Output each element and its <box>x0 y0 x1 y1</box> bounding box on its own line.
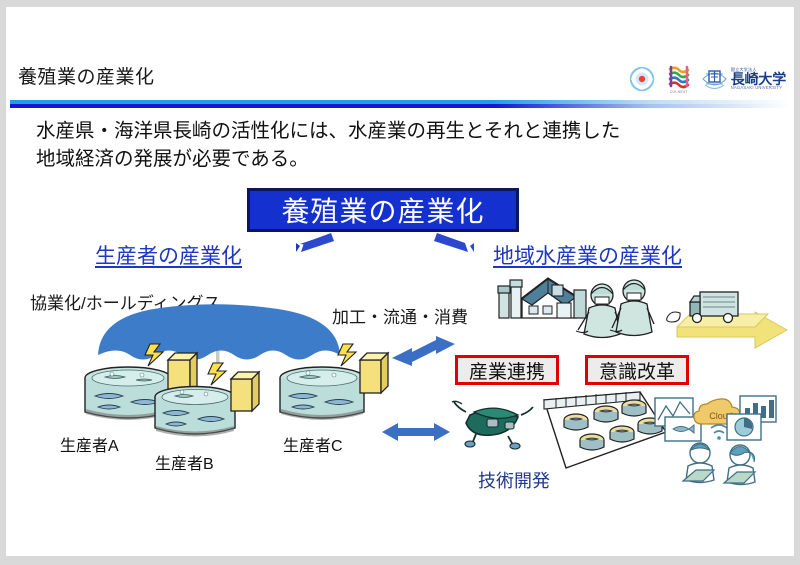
producer-tank-c-icon <box>280 344 388 420</box>
producer-label-b: 生産者B <box>155 450 214 474</box>
producer-label-c: 生産者C <box>283 432 343 456</box>
truck-icon <box>667 292 738 323</box>
branch-arrow-left-icon <box>296 233 334 252</box>
page-title: 養殖業の産業化 <box>18 62 155 89</box>
lead-line-1: 水産県・海洋県長崎の活性化には、水産業の再生とそれと連携した <box>36 118 766 146</box>
branch-arrow-right-icon <box>434 233 474 252</box>
nagasaki-main-text: 長崎大学 <box>731 72 786 86</box>
aquaculture-farm-icon <box>544 392 666 468</box>
nagasaki-wordmark: 国立大学法人 長崎大学 NAGASAKI UNIVERSITY <box>731 68 786 90</box>
distribution-arrow-icon <box>677 312 787 348</box>
coinext-icon <box>666 65 692 89</box>
connector-arrow-lower-icon <box>382 423 450 441</box>
svg-text:Cloud: Cloud <box>709 411 733 421</box>
value-chain-label: 加工・流通・消費 <box>332 303 468 328</box>
tech-development-label: 技術開発 <box>478 467 550 493</box>
workers-icon <box>576 280 654 338</box>
producer-tank-b-icon <box>155 363 259 437</box>
coinext-caption: COI-NEXT <box>670 90 688 94</box>
slide-frame-top <box>0 0 800 7</box>
nagasaki-crest-icon <box>701 65 728 93</box>
producer-tank-a-icon <box>85 344 197 420</box>
highlight-box-mindset-reform: 意識改革 <box>585 355 689 385</box>
branch-heading-producers: 生産者の産業化 <box>95 240 242 270</box>
slide-frame-bottom <box>0 556 800 565</box>
ict-cloud-icon: Cloud <box>655 396 776 485</box>
connector-arrow-upper-icon <box>392 336 455 366</box>
umbrella-icon <box>98 304 340 376</box>
factory-icon <box>498 278 586 318</box>
lead-line-2: 地域経済の発展が必要である。 <box>36 146 766 174</box>
branch-heading-regional: 地域水産業の産業化 <box>493 240 682 270</box>
marine-flower-logo <box>627 64 657 94</box>
nagasaki-sub-text: NAGASAKI UNIVERSITY <box>731 86 786 90</box>
logo-group: COI-NEXT 国立大学法人 長崎大学 NAGASAKI UNIVERSITY <box>627 60 786 98</box>
nagasaki-university-logo: 国立大学法人 長崎大学 NAGASAKI UNIVERSITY <box>701 65 786 93</box>
coinext-logo: COI-NEXT <box>666 65 692 94</box>
slide-frame-left <box>0 0 6 565</box>
underwater-drone-icon <box>452 401 533 449</box>
slide-frame-right <box>794 0 800 565</box>
umbrella-label: 協業化/ホールディングス <box>30 289 221 314</box>
producer-label-a: 生産者A <box>60 432 119 456</box>
main-concept-banner: 養殖業の産業化 <box>247 188 519 232</box>
slide-canvas: 養殖業の産業化 <box>0 0 800 565</box>
highlight-box-industry-link: 産業連携 <box>455 355 559 385</box>
lead-paragraph: 水産県・海洋県長崎の活性化には、水産業の再生とそれと連携した 地域経済の発展が必… <box>36 118 766 173</box>
header-divider-dark <box>10 104 790 108</box>
marine-flower-icon <box>627 64 657 94</box>
